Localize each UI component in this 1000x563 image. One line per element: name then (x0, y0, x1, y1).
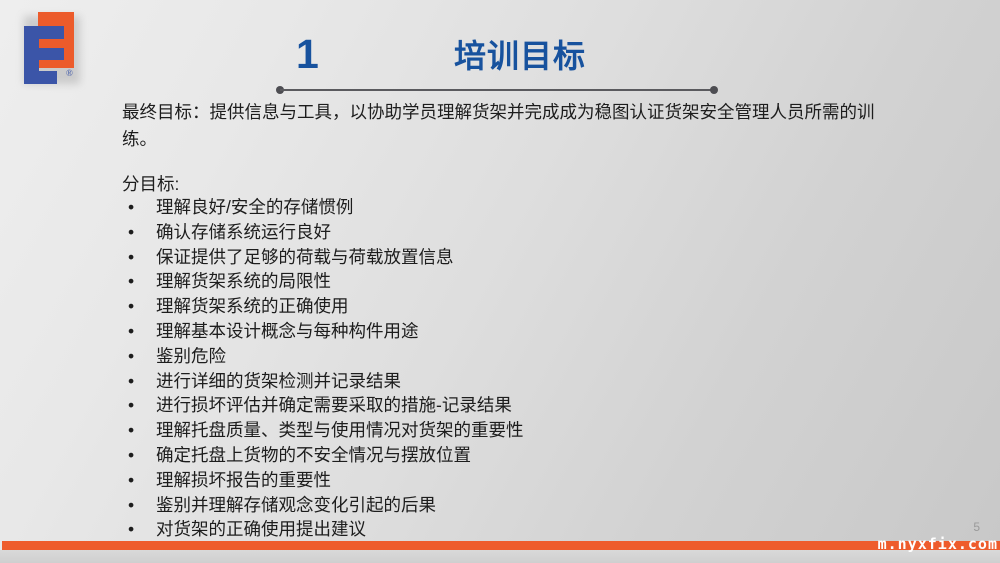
logo-letter-e-arm-top (24, 26, 64, 39)
list-item-label: 对货架的正确使用提出建议 (156, 519, 366, 539)
company-logo: ® (20, 12, 82, 86)
list-item: •进行详细的货架检测并记录结果 (122, 369, 902, 394)
list-item: •理解托盘质量、类型与使用情况对货架的重要性 (122, 418, 902, 443)
list-item: •鉴别并理解存储观念变化引起的后果 (122, 493, 902, 518)
list-item: •理解货架系统的局限性 (122, 269, 902, 294)
section-number: 1 (296, 30, 318, 78)
bullet-marker-icon: • (128, 393, 134, 418)
page-title: 培训目标 (454, 34, 586, 78)
bullet-marker-icon: • (128, 319, 134, 344)
objectives-list: •理解良好/安全的存储惯例•确认存储系统运行良好•保证提供了足够的荷载与荷载放置… (122, 195, 902, 563)
list-item-label: 鉴别危险 (156, 346, 226, 366)
bullet-marker-icon: • (128, 245, 134, 270)
intro-paragraph: 最终目标：提供信息与工具，以协助学员理解货架并完成成为稳图认证货架安全管理人员所… (122, 99, 882, 153)
bullet-marker-icon: • (128, 468, 134, 493)
list-item-label: 进行详细的货架检测并记录结果 (156, 371, 401, 391)
list-item: •鉴别危险 (122, 344, 902, 369)
list-item: •保证提供了足够的荷载与荷载放置信息 (122, 245, 902, 270)
bullet-marker-icon: • (128, 493, 134, 518)
list-item: •对货架的正确使用提出建议 (122, 517, 902, 542)
bullet-marker-icon: • (128, 369, 134, 394)
list-item: •理解良好/安全的存储惯例 (122, 195, 902, 220)
bullet-marker-icon: • (128, 443, 134, 468)
slide-header: 1 培训目标 (278, 30, 728, 88)
bullet-marker-icon: • (128, 418, 134, 443)
list-item: •理解货架系统的正确使用 (122, 294, 902, 319)
bullet-marker-icon: • (128, 294, 134, 319)
bullet-marker-icon: • (128, 195, 134, 220)
list-item-label: 确定托盘上货物的不安全情况与摆放位置 (156, 445, 471, 465)
presentation-slide: ® 1 培训目标 最终目标：提供信息与工具，以协助学员理解货架并完成成为稳图认证… (0, 0, 1000, 563)
registered-trademark-icon: ® (66, 69, 73, 78)
watermark-text: m.nyxfix.com (878, 536, 998, 553)
bullet-marker-icon: • (128, 220, 134, 245)
sub-objectives-heading: 分目标: (122, 171, 179, 198)
logo-letter-e-arm-bottom (24, 71, 57, 84)
page-number: 5 (973, 520, 980, 534)
logo-letter-e-arm-middle (24, 48, 64, 60)
divider-line (280, 89, 714, 91)
list-item: •确定托盘上货物的不安全情况与摆放位置 (122, 443, 902, 468)
list-item-label: 理解货架系统的正确使用 (156, 296, 349, 316)
list-item-label: 鉴别并理解存储观念变化引起的后果 (156, 495, 436, 515)
bullet-marker-icon: • (128, 517, 134, 542)
list-item-label: 理解货架系统的局限性 (156, 271, 331, 291)
list-item: •理解损坏报告的重要性 (122, 468, 902, 493)
divider-dot-right (710, 86, 718, 94)
footer-accent-bar (2, 541, 1000, 550)
bullet-marker-icon: • (128, 344, 134, 369)
list-item-label: 保证提供了足够的荷载与荷载放置信息 (156, 247, 454, 267)
list-item-label: 确认存储系统运行良好 (156, 222, 331, 242)
bullet-marker-icon: • (128, 269, 134, 294)
list-item-label: 进行损坏评估并确定需要采取的措施-记录结果 (156, 395, 512, 415)
list-item: •理解基本设计概念与每种构件用途 (122, 319, 902, 344)
list-item-label: 理解基本设计概念与每种构件用途 (156, 321, 419, 341)
list-item: •进行损坏评估并确定需要采取的措施-记录结果 (122, 393, 902, 418)
list-item-label: 理解托盘质量、类型与使用情况对货架的重要性 (156, 420, 524, 440)
footer-strip (0, 550, 1000, 563)
list-item-label: 理解损坏报告的重要性 (156, 470, 331, 490)
list-item-label: 理解良好/安全的存储惯例 (156, 197, 353, 217)
title-divider (276, 86, 718, 94)
list-item: •确认存储系统运行良好 (122, 220, 902, 245)
